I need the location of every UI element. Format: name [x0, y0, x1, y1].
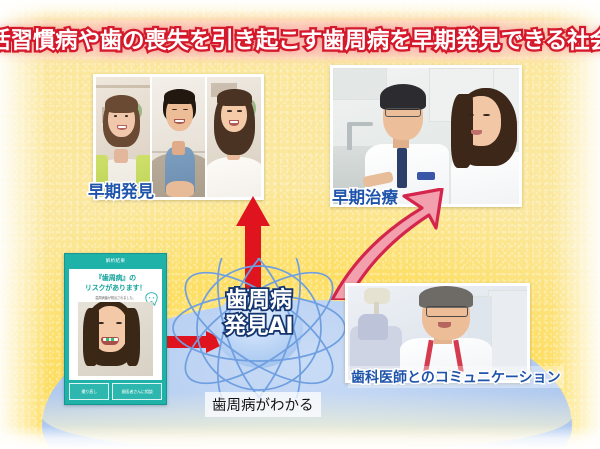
portrait-man	[152, 77, 206, 197]
app-action-buttons: 撮り直し 歯医者さんに相談	[69, 383, 162, 400]
ai-label: 歯周病 発見AI	[168, 288, 350, 340]
app-headline-line1: 『歯周病』の	[95, 274, 136, 282]
consult-dentist-button[interactable]: 歯医者さんに相談	[112, 383, 162, 400]
ai-atom-graphic: 歯周病 発見AI	[168, 258, 350, 398]
page-title: 生活習慣病や歯の喪失を引き起こす歯周病を早期発見できる社会へ	[0, 20, 600, 58]
background-bottom-fade	[0, 425, 600, 449]
app-result-card: 『歯周病』の リスクがあります！ 歯周病菌が検出されました。	[69, 269, 162, 380]
ai-label-line1: 歯周病	[226, 288, 292, 313]
app-status-bar: 解析結果	[65, 254, 166, 267]
infographic-canvas: 生活習慣病や歯の喪失を引き起こす歯周病を早期発見できる社会へ	[0, 0, 600, 449]
caption-early-detection: 早期発見	[88, 178, 154, 202]
ai-label-line2: 発見AI	[168, 314, 350, 340]
caption-understand-periodontal: 歯周病がわかる	[205, 392, 321, 417]
retake-button[interactable]: 撮り直し	[69, 383, 109, 400]
caption-dentist-communication: 歯科医師とのコミュニケーション	[348, 366, 564, 388]
smartphone-app-mockup[interactable]: 解析結果 『歯周病』の リスクがあります！ 歯周病菌が検出されました。	[64, 253, 167, 405]
background-left-fade	[0, 0, 48, 449]
app-selfie-photo	[78, 302, 153, 376]
app-headline-line2: リスクがあります！	[85, 284, 146, 292]
app-headline: 『歯周病』の リスクがあります！	[69, 273, 162, 293]
portrait-woman-young	[207, 77, 261, 197]
app-status-label: 解析結果	[106, 258, 126, 264]
